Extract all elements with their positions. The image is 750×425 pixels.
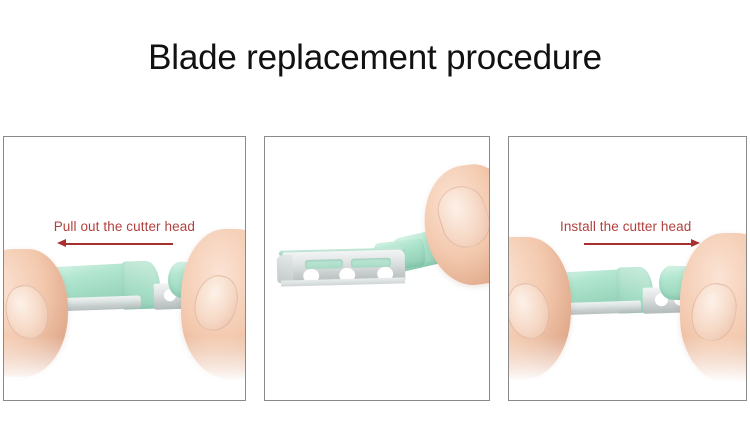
thumbnail bbox=[432, 180, 491, 254]
page-title: Blade replacement procedure bbox=[0, 38, 750, 78]
step-panel-1: Pull out the cutter head bbox=[3, 136, 246, 401]
step-panel-2 bbox=[264, 136, 491, 401]
cutter-head-tip bbox=[276, 255, 293, 283]
arrow-head bbox=[691, 239, 700, 247]
photo-fade bbox=[265, 336, 490, 400]
left-hand bbox=[508, 237, 571, 379]
right-hand bbox=[680, 233, 747, 383]
right-hand bbox=[181, 229, 246, 379]
product-photo-step-3 bbox=[509, 137, 746, 400]
step-panel-3: Install the cutter head bbox=[508, 136, 747, 401]
thumb bbox=[417, 159, 490, 291]
step-caption-3: Install the cutter head bbox=[508, 219, 744, 234]
thumbnail bbox=[686, 279, 741, 345]
thumbnail bbox=[188, 271, 242, 335]
panel-row: Pull out the cutter head bbox=[3, 136, 747, 401]
arrow-shaft bbox=[584, 243, 693, 245]
thumbnail bbox=[508, 279, 554, 343]
thumbnail bbox=[3, 281, 54, 344]
arrow-left-icon bbox=[57, 239, 173, 249]
arrow-shaft bbox=[64, 243, 173, 245]
cutter-head-slot bbox=[304, 259, 342, 269]
step-caption-1: Pull out the cutter head bbox=[4, 219, 245, 234]
product-photo-step-2 bbox=[265, 137, 490, 400]
arrow-right-icon bbox=[584, 239, 700, 249]
product-photo-step-1 bbox=[4, 137, 245, 400]
